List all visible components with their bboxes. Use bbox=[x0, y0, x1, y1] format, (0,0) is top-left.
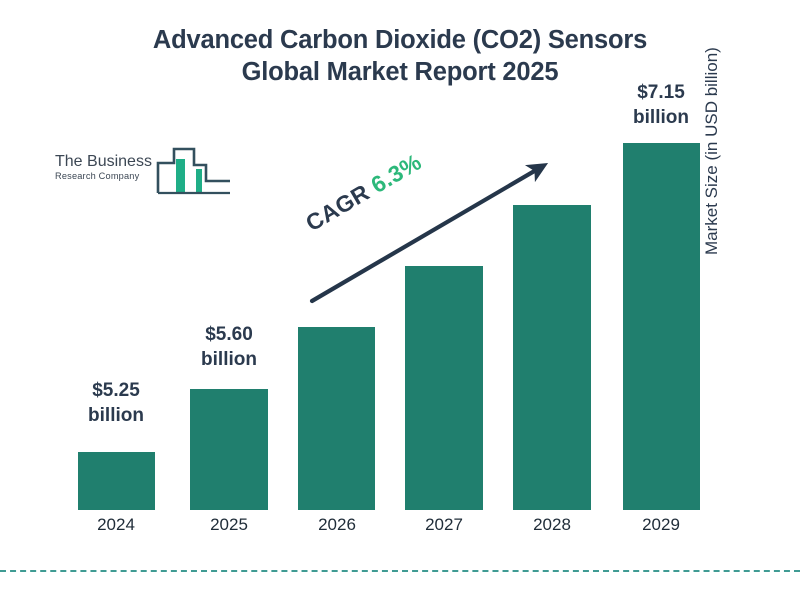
y-axis-title: Market Size (in USD billion) bbox=[702, 0, 722, 255]
bar-value-2025-amount: $5.60 bbox=[169, 322, 289, 347]
bar-chart-plot-area: $5.25 billion $5.60 billion $7.15 billio… bbox=[0, 0, 800, 600]
chart-canvas: Advanced Carbon Dioxide (CO2) Sensors Gl… bbox=[0, 0, 800, 600]
bar-value-2024-amount: $5.25 bbox=[56, 378, 176, 403]
x-axis-label-2025: 2025 bbox=[189, 515, 269, 535]
x-axis-label-2028: 2028 bbox=[512, 515, 592, 535]
bar-value-2024-unit: billion bbox=[56, 403, 176, 428]
x-axis-label-2024: 2024 bbox=[76, 515, 156, 535]
cagr-label: CAGR bbox=[301, 179, 374, 236]
cagr-annotation: CAGR 6.3% bbox=[300, 150, 570, 315]
x-axis-label-2026: 2026 bbox=[297, 515, 377, 535]
cagr-value: 6.3% bbox=[366, 148, 425, 198]
bar-2029 bbox=[623, 143, 700, 510]
bar-value-2025-unit: billion bbox=[169, 347, 289, 372]
bar-2024 bbox=[78, 452, 155, 510]
bar-2026 bbox=[298, 327, 375, 510]
bar-value-2025: $5.60 billion bbox=[169, 322, 289, 372]
bar-2025 bbox=[190, 389, 268, 510]
x-axis-label-2027: 2027 bbox=[404, 515, 484, 535]
footer-divider bbox=[0, 570, 800, 572]
x-axis-label-2029: 2029 bbox=[621, 515, 701, 535]
bar-value-2024: $5.25 billion bbox=[56, 378, 176, 428]
